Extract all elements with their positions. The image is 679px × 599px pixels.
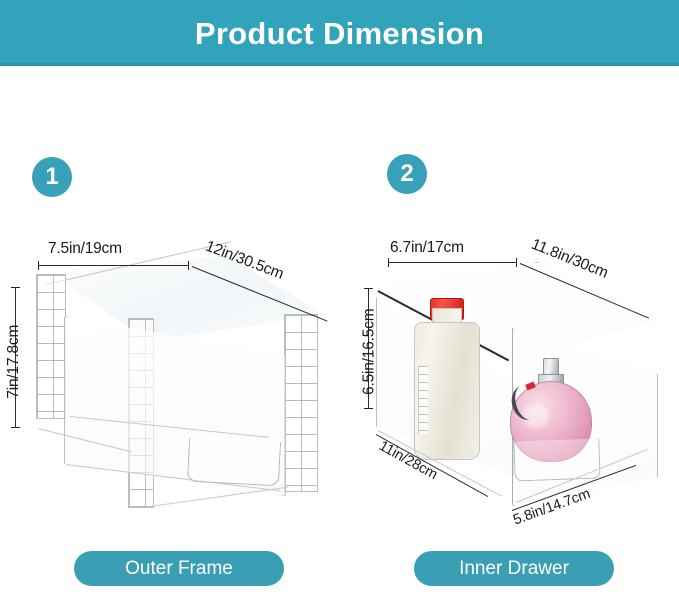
caption-pill-outer-frame-label: Outer Frame [125, 559, 233, 578]
caption-pill-inner-drawer-label: Inner Drawer [459, 559, 569, 578]
bottle-red-cap [414, 298, 480, 460]
outer-frame-right-ribbed-panel [284, 314, 318, 492]
caption-pill-inner-drawer[interactable]: Inner Drawer [414, 551, 614, 586]
dim-tick-inner-width-start [388, 258, 389, 267]
dim-tick-inner-height-bottom [364, 408, 373, 409]
product-panel-outer-frame: 1 7.5in/1 [0, 66, 339, 531]
outer-frame-bottom-right-edge [150, 487, 289, 507]
inner-drawer-front-lip-handle [513, 439, 600, 482]
page-title: Product Dimension [195, 18, 484, 49]
dim-label-outer-height: 7in/17.8cm [6, 325, 22, 399]
dim-tick-outer-height-top [11, 287, 20, 288]
inner-drawer-illustration [362, 262, 662, 532]
step-badge-1-label: 1 [45, 165, 58, 189]
dim-label-inner-height: 6.5in/16.5cm [361, 309, 377, 395]
outer-frame-front-lip-handle [187, 438, 281, 487]
step-badge-1: 1 [32, 157, 72, 197]
caption-pill-outer-frame[interactable]: Outer Frame [74, 551, 284, 586]
product-panel-inner-drawer: 2 [340, 66, 679, 531]
dim-tick-outer-width-start [38, 261, 39, 270]
dim-tick-inner-height-top [364, 288, 373, 289]
bottle-label [418, 366, 428, 434]
perfume-cap-icon [543, 358, 559, 375]
step-badge-2: 2 [387, 154, 427, 194]
header-banner: Product Dimension [0, 0, 679, 66]
outer-frame-left-ribbed-panel [36, 274, 66, 419]
dim-label-inner-width: 6.7in/17cm [390, 240, 464, 256]
dim-tick-inner-width-end [516, 258, 517, 267]
product-illustration-stage: 1 7.5in/1 [0, 66, 679, 531]
dim-tick-outer-height-bottom [11, 427, 20, 428]
step-badge-2-label: 2 [400, 162, 413, 186]
dim-line-inner-width [388, 262, 516, 263]
outer-frame-illustration [28, 256, 328, 516]
dim-label-outer-width: 7.5in/19cm [48, 241, 122, 257]
dim-tick-outer-width-end [188, 261, 189, 270]
dim-line-outer-width [38, 265, 188, 266]
